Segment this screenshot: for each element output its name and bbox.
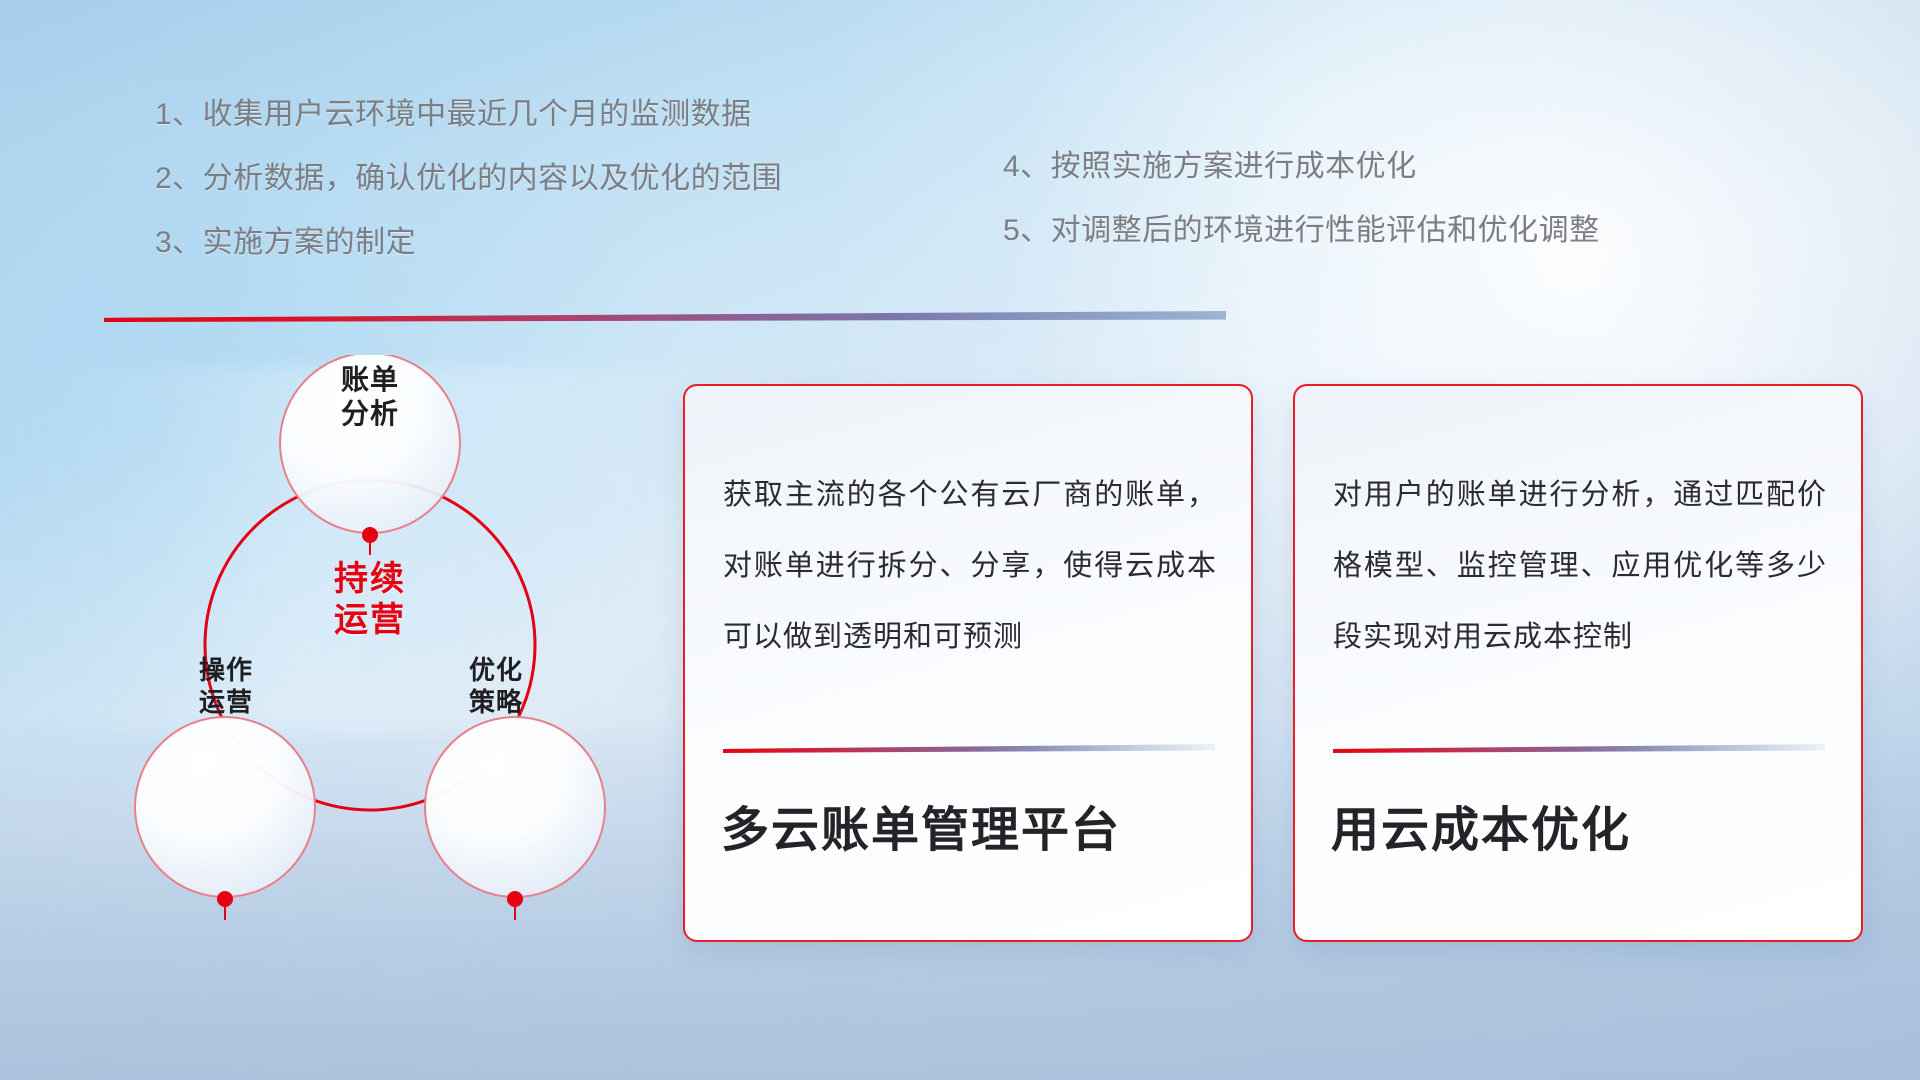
card-body-text: 对用户的账单进行分析，通过匹配价格模型、监控管理、应用优化等多少段实现对用云成本… (1333, 460, 1827, 673)
venn-label-operation: 操作 运营 (136, 655, 316, 718)
card-body-text: 获取主流的各个公有云厂商的账单，对账单进行拆分、分享，使得云成本可以做到透明和可… (723, 460, 1217, 673)
steps-list-right: 4、按照实施方案进行成本优化 5、对调整后的环境进行性能评估和优化调整 (1003, 152, 1600, 280)
venn-dot-left (217, 891, 233, 907)
venn-label-bill-analysis: 账单 分析 (280, 363, 460, 431)
venn-dot-top (362, 527, 378, 543)
card-cloud-cost-optimization[interactable]: 对用户的账单进行分析，通过匹配价格模型、监控管理、应用优化等多少段实现对用云成本… (1293, 384, 1863, 942)
venn-svg (100, 355, 640, 935)
card-title-text: 多云账单管理平台 (721, 790, 1121, 860)
venn-label-optimize-strategy: 优化 策略 (406, 655, 586, 718)
venn-circle-optimize-strategy (425, 717, 605, 897)
step-item-2: 2、分析数据，确认优化的内容以及优化的范围 (155, 164, 782, 194)
venn-label-center: 持续 运营 (275, 559, 465, 642)
venn-diagram: 账单 分析 操作 运营 优化 策略 持续 运营 (100, 355, 640, 935)
steps-list-left: 1、收集用户云环境中最近几个月的监测数据 2、分析数据，确认优化的内容以及优化的… (155, 100, 782, 292)
card-title-text: 用云成本优化 (1331, 790, 1631, 860)
section-divider-top (104, 311, 1226, 322)
step-item-1: 1、收集用户云环境中最近几个月的监测数据 (155, 100, 782, 130)
step-item-5: 5、对调整后的环境进行性能评估和优化调整 (1003, 216, 1600, 246)
card-multi-cloud-billing-platform[interactable]: 获取主流的各个公有云厂商的账单，对账单进行拆分、分享，使得云成本可以做到透明和可… (683, 384, 1253, 942)
card-divider (1333, 744, 1825, 753)
venn-circle-operation (135, 717, 315, 897)
card-divider (723, 744, 1215, 753)
step-item-3: 3、实施方案的制定 (155, 228, 782, 258)
venn-dot-right (507, 891, 523, 907)
step-item-4: 4、按照实施方案进行成本优化 (1003, 152, 1600, 182)
